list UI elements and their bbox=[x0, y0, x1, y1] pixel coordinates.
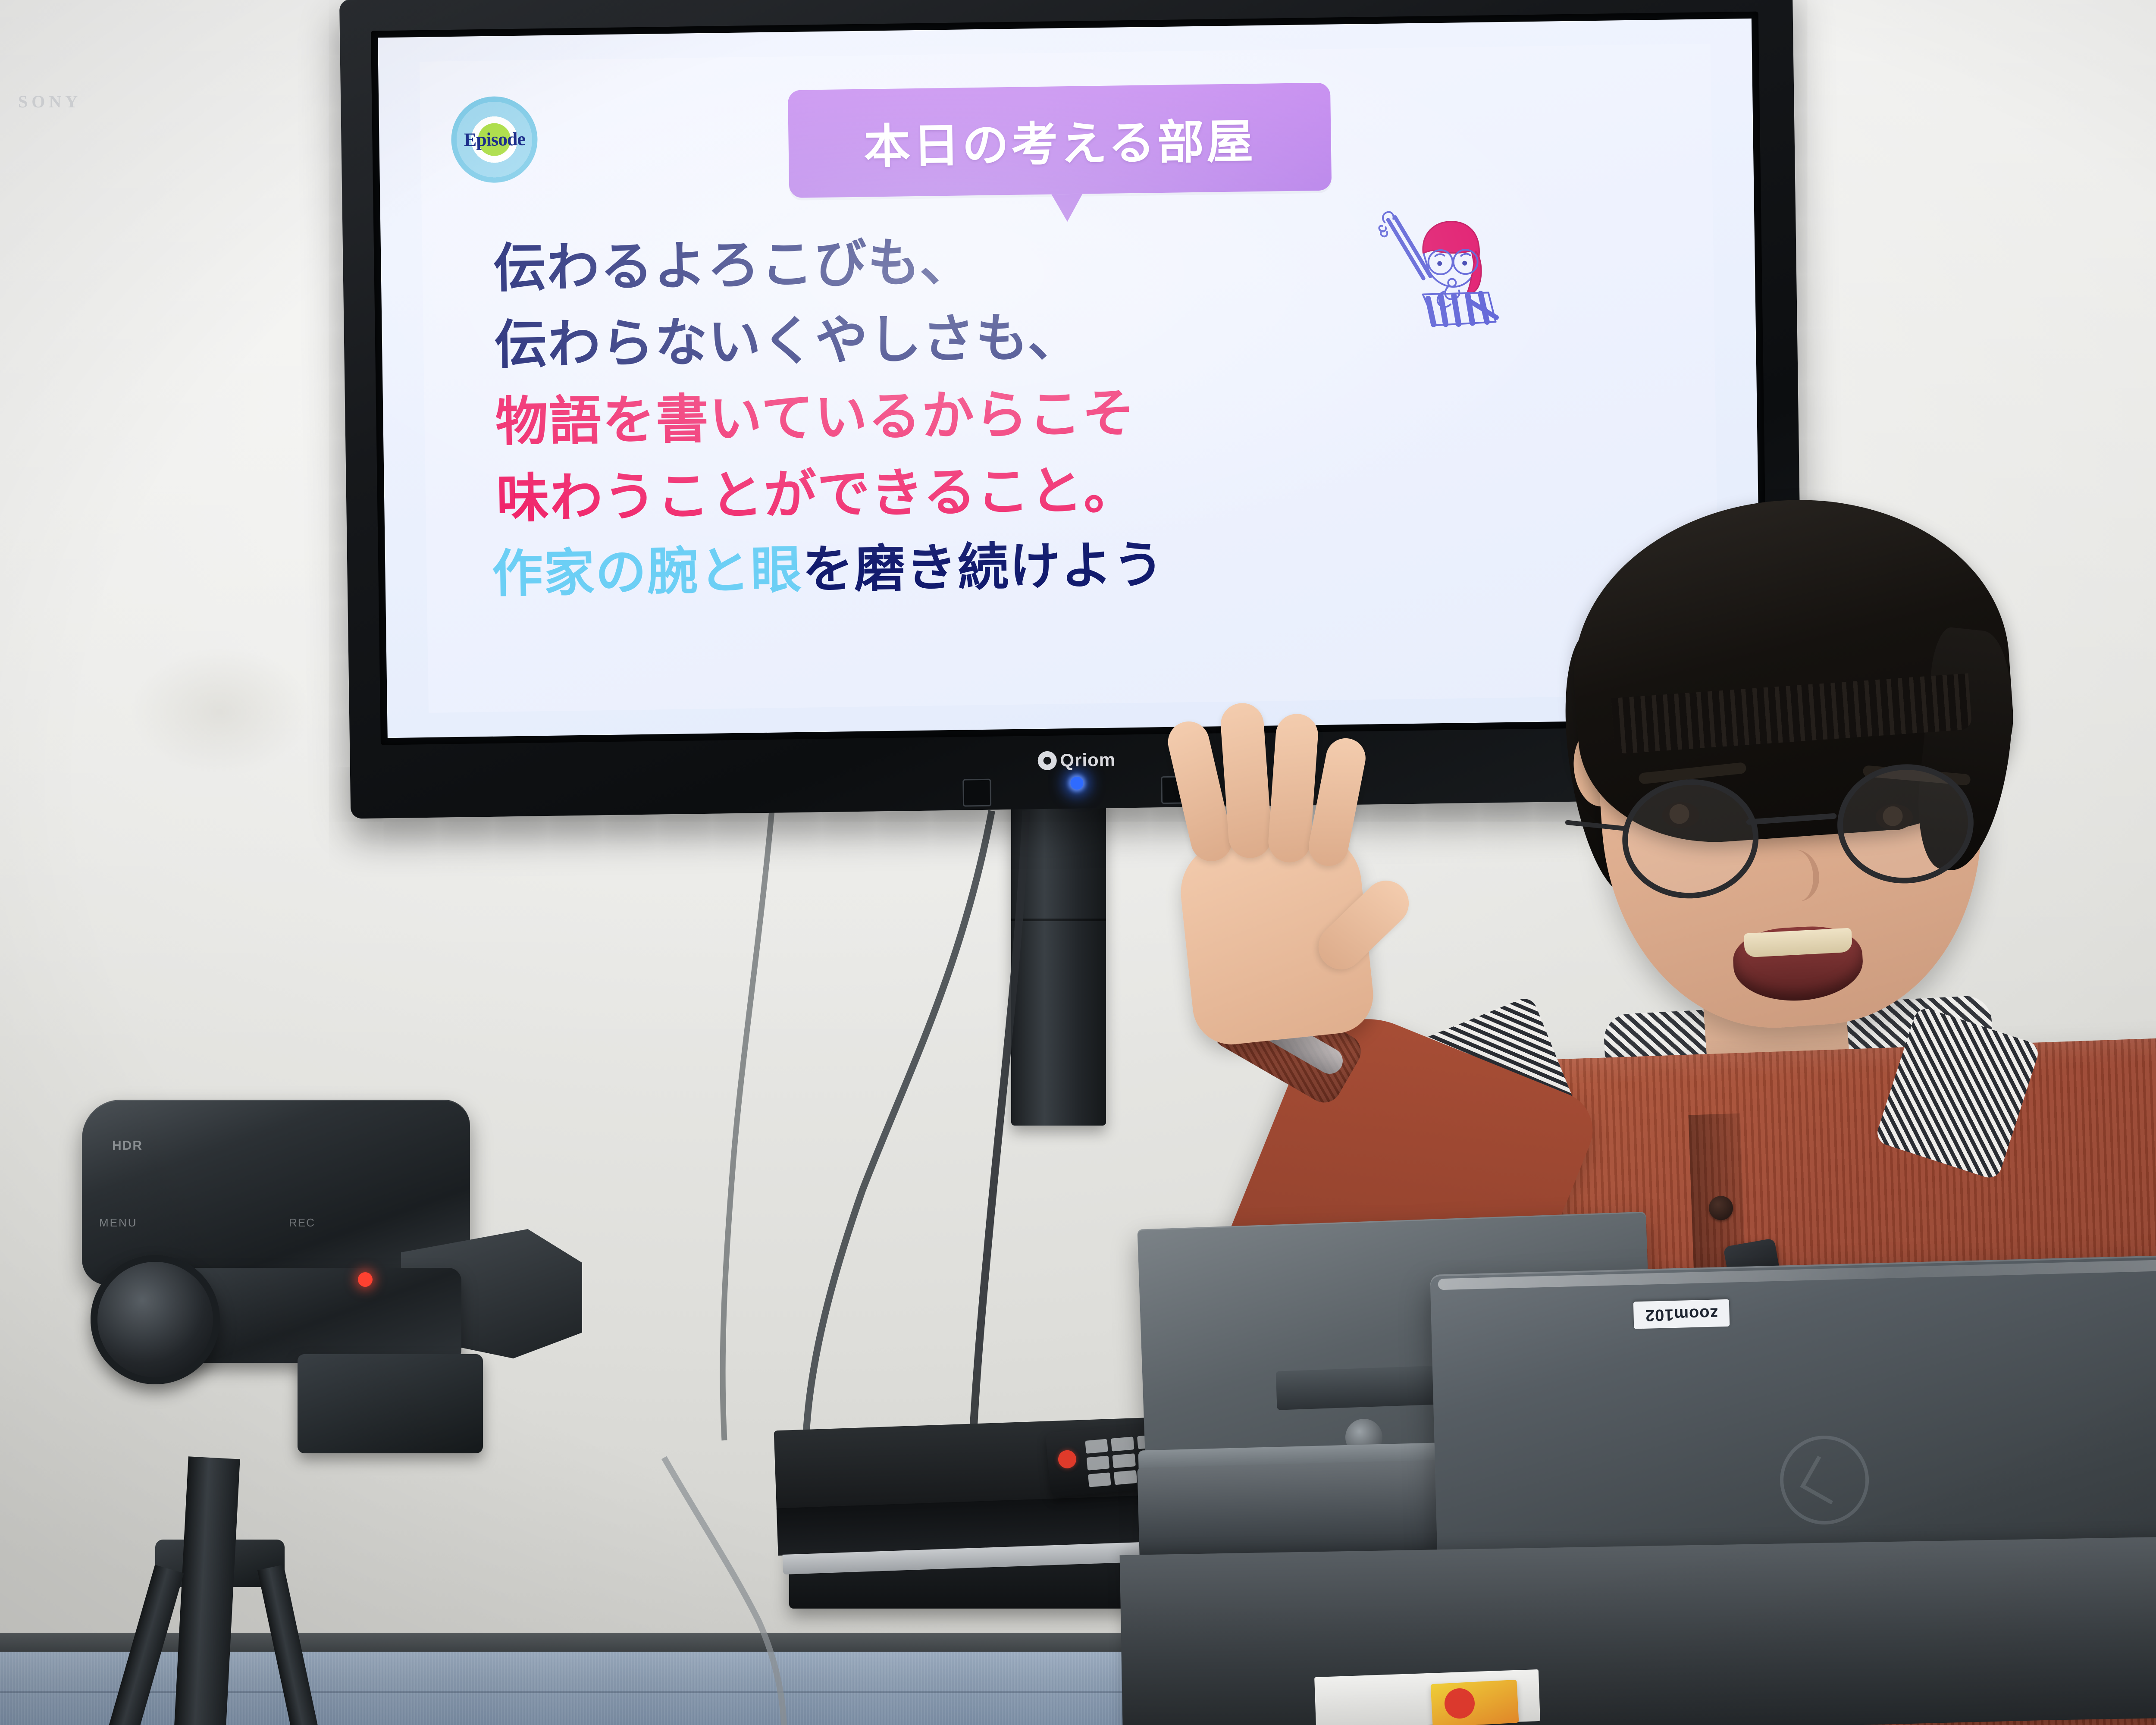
tripod-head[interactable] bbox=[298, 1354, 483, 1453]
sony-brand-text: SONY bbox=[18, 91, 81, 112]
camera-record-led bbox=[358, 1272, 373, 1287]
slide-title-text: 本日の考える部屋 bbox=[863, 104, 1256, 177]
slide-title-banner: 本日の考える部屋 bbox=[788, 83, 1332, 198]
camera-lens bbox=[91, 1255, 220, 1384]
book-dot-icon bbox=[1445, 1688, 1475, 1719]
remote-power-button[interactable] bbox=[1057, 1449, 1077, 1469]
video-camera[interactable]: HDR MENU REC bbox=[65, 1087, 651, 1475]
speech-bubble-tail bbox=[1051, 194, 1083, 222]
tv-brand-logo: Qriom bbox=[1037, 750, 1116, 772]
episode-logo: Episode bbox=[451, 96, 539, 183]
slide-line-5-rest: を磨き続けよう bbox=[802, 536, 1165, 599]
tv-power-led bbox=[1070, 777, 1083, 790]
camera-model-text: HDR bbox=[112, 1138, 143, 1153]
slide-line-5-highlight: 作家の腕と眼 bbox=[492, 542, 803, 603]
remote-button[interactable] bbox=[1111, 1436, 1134, 1451]
remote-button[interactable] bbox=[1114, 1470, 1137, 1485]
desk-surface bbox=[1120, 1533, 2156, 1725]
tv-stand-column bbox=[1011, 789, 1106, 1126]
pointing-character-icon bbox=[1358, 206, 1503, 381]
colored-book bbox=[1431, 1680, 1519, 1725]
logo-wordmark: Episode bbox=[464, 128, 525, 151]
camera-control-text: MENU bbox=[99, 1216, 138, 1229]
remote-button[interactable] bbox=[1087, 1455, 1110, 1470]
camera-control-text: REC bbox=[289, 1216, 315, 1229]
laptop-asset-sticker: zoom102 bbox=[1633, 1299, 1730, 1329]
qriom-mark-icon bbox=[1037, 751, 1057, 771]
slide-line-2: 伝わらないくやしさも、 bbox=[494, 294, 1425, 383]
wall-shadow bbox=[129, 647, 310, 776]
tv-brand-text: Qriom bbox=[1060, 750, 1116, 771]
remote-button[interactable] bbox=[1085, 1439, 1108, 1454]
remote-button[interactable] bbox=[1112, 1453, 1136, 1468]
remote-button[interactable] bbox=[1088, 1472, 1111, 1487]
glasses-bridge bbox=[1746, 813, 1836, 825]
photo-scene: Episode 本日の考える部屋 伝わるよろこびも、 伝わらないくやしさも、 物… bbox=[0, 0, 2156, 1725]
stand-seam bbox=[1011, 919, 1106, 921]
dell-logo-icon bbox=[1770, 1425, 1879, 1535]
slide-line-1: 伝わるよろこびも、 bbox=[493, 217, 1424, 307]
